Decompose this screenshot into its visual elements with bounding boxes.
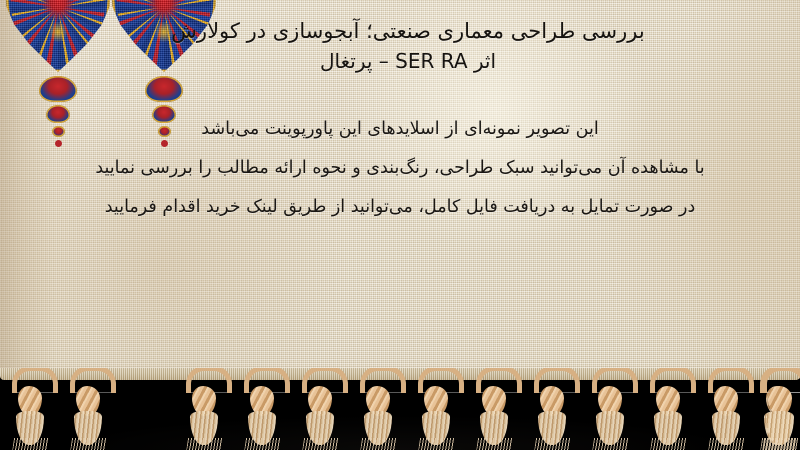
tassel-icon — [704, 370, 748, 448]
tassel-icon — [66, 370, 110, 448]
presentation-slide: بررسی طراحی معماری صنعتی؛ آبجوسازی در کو… — [0, 0, 800, 450]
tassel-icon — [8, 370, 52, 448]
tassel-icon — [530, 370, 574, 448]
tassel-icon — [298, 370, 342, 448]
tassel-icon — [356, 370, 400, 448]
title-line-2: اثر SER RA – پرتغال — [28, 46, 788, 76]
tassel-icon — [646, 370, 690, 448]
tassel-icon — [472, 370, 516, 448]
tassel-icon — [588, 370, 632, 448]
title-line-1: بررسی طراحی معماری صنعتی؛ آبجوسازی در کو… — [28, 16, 788, 46]
body-line-2: با مشاهده آن می‌توانید سبک طراحی، رنگ‌بن… — [16, 149, 784, 188]
tassel-icon — [758, 370, 800, 448]
tassel-icon — [414, 370, 458, 448]
slide-title: بررسی طراحی معماری صنعتی؛ آبجوسازی در کو… — [28, 16, 788, 76]
tassel-icon — [240, 370, 284, 448]
tassel-icon — [182, 370, 226, 448]
slide-body-text: این تصویر نمونه‌ای از اسلایدهای این پاور… — [16, 110, 784, 227]
body-line-1: این تصویر نمونه‌ای از اسلایدهای این پاور… — [16, 110, 784, 149]
body-line-3: در صورت تمایل به دریافت فایل کامل، می‌تو… — [16, 188, 784, 227]
slide-text-layer: بررسی طراحی معماری صنعتی؛ آبجوسازی در کو… — [0, 0, 800, 372]
tassel-fringe-strip — [0, 368, 800, 450]
